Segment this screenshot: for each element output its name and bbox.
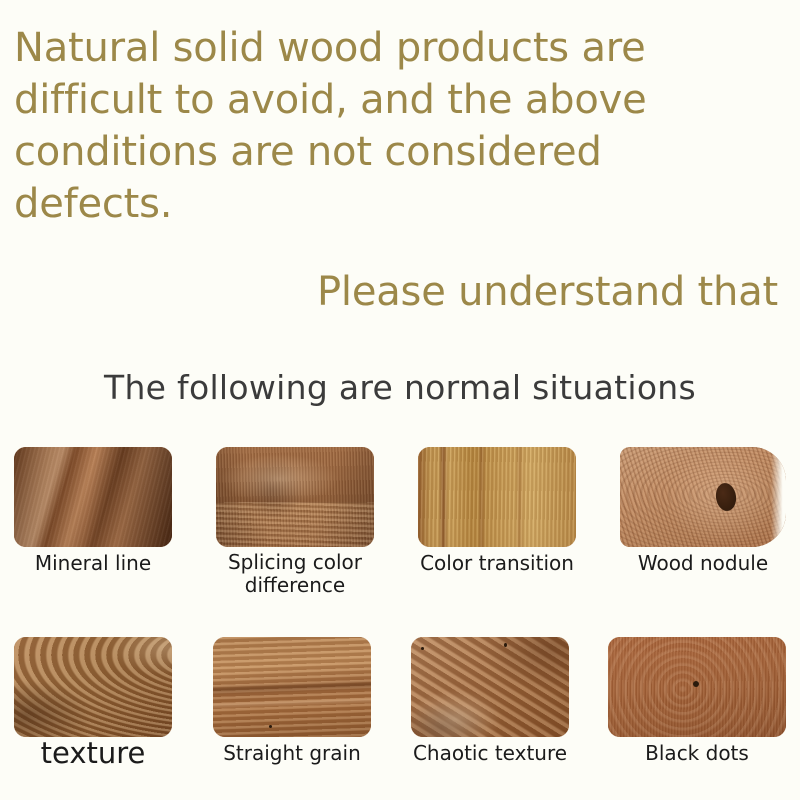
situation-cell-chaotic-texture: Chaotic texture <box>411 637 569 737</box>
texture-wood-swatch <box>14 637 172 737</box>
situation-cell-straight-grain: Straight grain <box>213 637 371 737</box>
situation-cell-texture: texture <box>14 637 172 737</box>
disclaimer-line-3: conditions are not considered <box>14 126 786 178</box>
wood-nodule-wood-swatch <box>620 447 786 547</box>
disclaimer-line-2: difficult to avoid, and the above <box>14 74 786 126</box>
situation-cell-color-transition: Color transition <box>418 447 576 547</box>
situation-cell-mineral-line: Mineral line <box>14 447 172 547</box>
mineral-line-wood-swatch <box>14 447 172 547</box>
situation-label-color-transition: Color transition <box>418 551 576 575</box>
black-dot-mark <box>693 681 699 687</box>
chaotic-texture-wood-swatch <box>411 637 569 737</box>
small-dark-dot <box>269 725 272 728</box>
situation-label-straight-grain: Straight grain <box>213 741 371 765</box>
section-heading: The following are normal situations <box>0 368 800 408</box>
situation-label-texture: texture <box>14 737 172 769</box>
situation-label-mineral-line: Mineral line <box>14 551 172 575</box>
black-dots-wood-swatch <box>608 637 786 737</box>
situation-cell-splicing-color-difference: Splicing color difference <box>216 447 374 547</box>
splicing-color-difference-wood-swatch <box>216 447 374 547</box>
small-dark-dot <box>504 643 507 647</box>
situation-label-wood-nodule: Wood nodule <box>620 551 786 575</box>
disclaimer-closing-line: Please understand that <box>14 266 786 318</box>
product-disclaimer-infographic: Natural solid wood products are difficul… <box>0 0 800 800</box>
color-transition-wood-swatch <box>418 447 576 547</box>
situation-label-chaotic-texture: Chaotic texture <box>411 741 569 765</box>
situation-cell-wood-nodule: Wood nodule <box>620 447 786 547</box>
situation-cell-black-dots: Black dots <box>608 637 786 737</box>
straight-grain-wood-swatch <box>213 637 371 737</box>
situation-label-black-dots: Black dots <box>608 741 786 765</box>
disclaimer-line-1: Natural solid wood products are <box>14 22 786 74</box>
disclaimer-text-block: Natural solid wood products are difficul… <box>14 22 786 318</box>
disclaimer-line-4: defects. <box>14 178 786 230</box>
small-dark-dot <box>421 647 424 650</box>
situation-label-splicing-color-difference: Splicing color difference <box>216 551 374 597</box>
